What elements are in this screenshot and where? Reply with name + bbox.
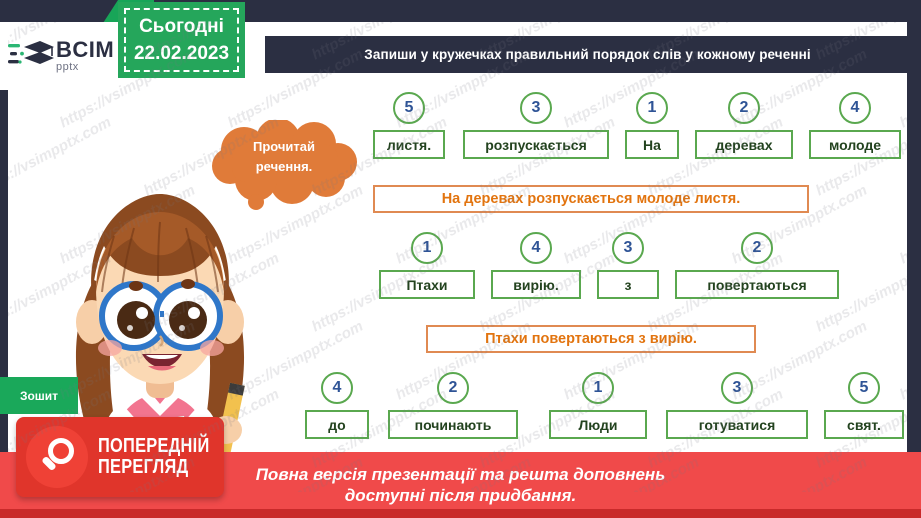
word-box: починають bbox=[388, 410, 518, 439]
word-card[interactable]: 4молоде bbox=[809, 92, 901, 162]
word-card[interactable]: 5свят. bbox=[824, 372, 904, 442]
word-box: вирію. bbox=[491, 270, 581, 299]
notebook-tab[interactable]: Зошит bbox=[0, 377, 78, 414]
word-card[interactable]: 1Птахи bbox=[379, 232, 475, 302]
word-card[interactable]: 5листя. bbox=[373, 92, 445, 162]
bottom-banner-line-2: доступні після придбання. bbox=[345, 485, 576, 506]
preview-badge-line-1: ПОПЕРЕДНІЙ bbox=[98, 436, 209, 457]
word-card[interactable]: 3готуватися bbox=[666, 372, 808, 442]
word-card[interactable]: 2повертаються bbox=[675, 232, 839, 302]
logo-subtitle: pptx bbox=[56, 62, 114, 73]
word-box: Люди bbox=[549, 410, 647, 439]
word-box: листя. bbox=[373, 130, 445, 159]
word-box: готуватися bbox=[666, 410, 808, 439]
word-box: свят. bbox=[824, 410, 904, 439]
exercise-row: 5листя.3розпускається1На2деревах4молоде bbox=[8, 92, 907, 172]
word-box: молоде bbox=[809, 130, 901, 159]
word-card[interactable]: 1Люди bbox=[549, 372, 647, 442]
word-card[interactable]: 1На bbox=[625, 92, 679, 162]
magnifier-icon bbox=[26, 426, 88, 488]
answer-sentence: Птахи повертаються з вирію. bbox=[426, 325, 756, 353]
order-number-circle[interactable]: 4 bbox=[839, 92, 871, 124]
logo-wordmark: BCIM bbox=[56, 39, 114, 61]
word-box: На bbox=[625, 130, 679, 159]
word-card[interactable]: 3з bbox=[597, 232, 659, 302]
word-box: розпускається bbox=[463, 130, 609, 159]
bubble-line-2: речення. bbox=[256, 157, 313, 177]
word-card[interactable]: 2деревах bbox=[695, 92, 793, 162]
order-number-circle[interactable]: 1 bbox=[636, 92, 668, 124]
slide-root: https://vsimpptx.comhttps://vsimpptx.com… bbox=[0, 0, 921, 518]
order-number-circle[interactable]: 3 bbox=[721, 372, 753, 404]
word-box: деревах bbox=[695, 130, 793, 159]
word-card[interactable]: 4вирію. bbox=[491, 232, 581, 302]
answer-sentence: На деревах розпускається молоде листя. bbox=[373, 185, 809, 213]
date-badge-value: 22.02.2023 bbox=[134, 43, 229, 65]
order-number-circle[interactable]: 1 bbox=[582, 372, 614, 404]
order-number-circle[interactable]: 5 bbox=[393, 92, 425, 124]
word-box: Птахи bbox=[379, 270, 475, 299]
order-number-circle[interactable]: 3 bbox=[612, 232, 644, 264]
word-box: повертаються bbox=[675, 270, 839, 299]
word-card[interactable]: 4до bbox=[305, 372, 369, 442]
order-number-circle[interactable]: 2 bbox=[437, 372, 469, 404]
page-title: Запиши у кружечках правильний порядок сл… bbox=[364, 47, 810, 62]
date-badge: Сьогодні 22.02.2023 bbox=[118, 2, 245, 78]
bottom-banner-line-1: Повна версія презентації та решта доповн… bbox=[256, 464, 666, 485]
order-number-circle[interactable]: 1 bbox=[411, 232, 443, 264]
preview-badge-line-2: ПЕРЕГЛЯД bbox=[98, 457, 209, 478]
order-number-circle[interactable]: 5 bbox=[848, 372, 880, 404]
order-number-circle[interactable]: 3 bbox=[520, 92, 552, 124]
graduation-cap-icon bbox=[8, 36, 54, 76]
slide-title-bar: Запиши у кружечках правильний порядок сл… bbox=[265, 36, 910, 73]
notebook-tab-label: Зошит bbox=[20, 389, 58, 403]
word-box: з bbox=[597, 270, 659, 299]
word-card[interactable]: 2починають bbox=[388, 372, 518, 442]
date-badge-label: Сьогодні bbox=[139, 16, 224, 38]
order-number-circle[interactable]: 2 bbox=[741, 232, 773, 264]
order-number-circle[interactable]: 4 bbox=[321, 372, 353, 404]
preview-badge[interactable]: ПОПЕРЕДНІЙ ПЕРЕГЛЯД bbox=[16, 417, 224, 497]
speech-bubble: Прочитай речення. bbox=[208, 120, 360, 204]
word-box: до bbox=[305, 410, 369, 439]
exercise-row: 1Птахи4вирію.3з2повертаються bbox=[8, 232, 907, 312]
order-number-circle[interactable]: 2 bbox=[728, 92, 760, 124]
order-number-circle[interactable]: 4 bbox=[520, 232, 552, 264]
word-card[interactable]: 3розпускається bbox=[463, 92, 609, 162]
bubble-line-1: Прочитай bbox=[253, 137, 315, 157]
